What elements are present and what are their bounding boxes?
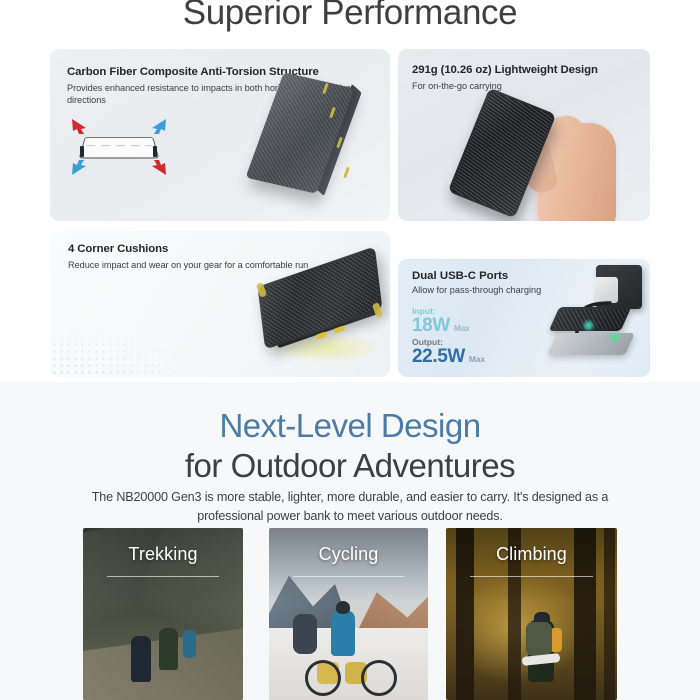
corner-bumper-icon	[343, 167, 350, 178]
lightweight-title: 291g (10.26 oz) Lightweight Design	[412, 64, 642, 76]
superior-performance-section: Superior Performance Carbon Fiber Compos…	[0, 0, 700, 382]
hiker-figure	[131, 636, 151, 682]
tile-gradient-overlay	[269, 528, 428, 602]
spec-input-suffix: Max	[454, 323, 470, 333]
pannier-bag	[293, 614, 317, 654]
tile-gradient-overlay	[83, 528, 243, 602]
pass-through-charging-illustration	[536, 263, 648, 375]
power-bank-angled-render	[246, 71, 376, 211]
feature-card-corner-cushions: 4 Corner Cushions Reduce impact and wear…	[50, 231, 390, 377]
spec-input: Input: 18WMax	[412, 306, 470, 336]
hand-holding-power-bank-photo	[450, 95, 650, 221]
power-bank-body	[246, 72, 355, 194]
tile-divider	[293, 576, 404, 577]
tile-divider	[107, 576, 219, 577]
feature-card-lightweight: 291g (10.26 oz) Lightweight Design For o…	[398, 49, 650, 221]
hiker-figure	[183, 630, 196, 658]
activity-tile-trekking[interactable]: Trekking	[83, 528, 243, 700]
torsion-slab-icon	[79, 137, 159, 158]
lightweight-text-block: 291g (10.26 oz) Lightweight Design For o…	[412, 64, 642, 92]
feature-card-carbon-fiber: Carbon Fiber Composite Anti-Torsion Stru…	[50, 49, 390, 221]
spec-output-suffix: Max	[469, 354, 485, 364]
spec-input-row: 18WMax	[412, 316, 470, 336]
tile-label-trekking: Trekking	[83, 544, 243, 565]
cyclist-figure	[331, 610, 355, 656]
tile-label-cycling: Cycling	[269, 544, 428, 565]
climber-backpack	[526, 622, 552, 656]
charging-spark-icon	[584, 321, 593, 330]
activity-tile-cycling[interactable]: Cycling	[269, 528, 428, 700]
torsion-cap-right-icon	[153, 146, 157, 157]
hiker-figure	[159, 628, 178, 670]
outdoor-adventures-section: Next-Level Design for Outdoor Adventures…	[0, 382, 700, 700]
smartphone-icon	[547, 333, 635, 355]
section-description: The NB20000 Gen3 is more stable, lighter…	[80, 488, 620, 526]
spec-output-value: 22.5W	[412, 346, 465, 367]
product-feature-page: Superior Performance Carbon Fiber Compos…	[0, 0, 700, 700]
bicycle-wheel	[361, 660, 397, 696]
spec-output-row: 22.5WMax	[412, 347, 485, 367]
lightweight-subtitle: For on-the-go carrying	[412, 80, 642, 92]
tile-gradient-overlay	[446, 528, 617, 602]
spec-input-value: 18W	[412, 315, 450, 336]
spec-output: Output: 22.5WMax	[412, 337, 485, 367]
page-title: Superior Performance	[0, 0, 700, 34]
torsion-cap-left-icon	[80, 146, 84, 157]
feature-card-dual-usb-c: Dual USB-C Ports Allow for pass-through …	[398, 259, 650, 377]
activity-tiles: Trekking Cycling	[0, 528, 700, 700]
anti-torsion-diagram	[66, 115, 170, 177]
charging-spark-icon	[610, 333, 619, 342]
climber-cap	[534, 612, 550, 622]
bicycle-wheel	[305, 660, 341, 696]
outdoor-adventures-heading: for Outdoor Adventures	[0, 446, 700, 486]
halftone-dot-pattern	[50, 299, 214, 377]
cyclist-helmet	[336, 601, 350, 614]
cushions-title: 4 Corner Cushions	[68, 243, 328, 255]
power-bank-top-render	[246, 261, 390, 371]
tile-divider	[470, 576, 593, 577]
activity-tile-climbing[interactable]: Climbing	[446, 528, 617, 700]
next-level-heading: Next-Level Design	[0, 406, 700, 446]
tile-label-climbing: Climbing	[446, 544, 617, 565]
